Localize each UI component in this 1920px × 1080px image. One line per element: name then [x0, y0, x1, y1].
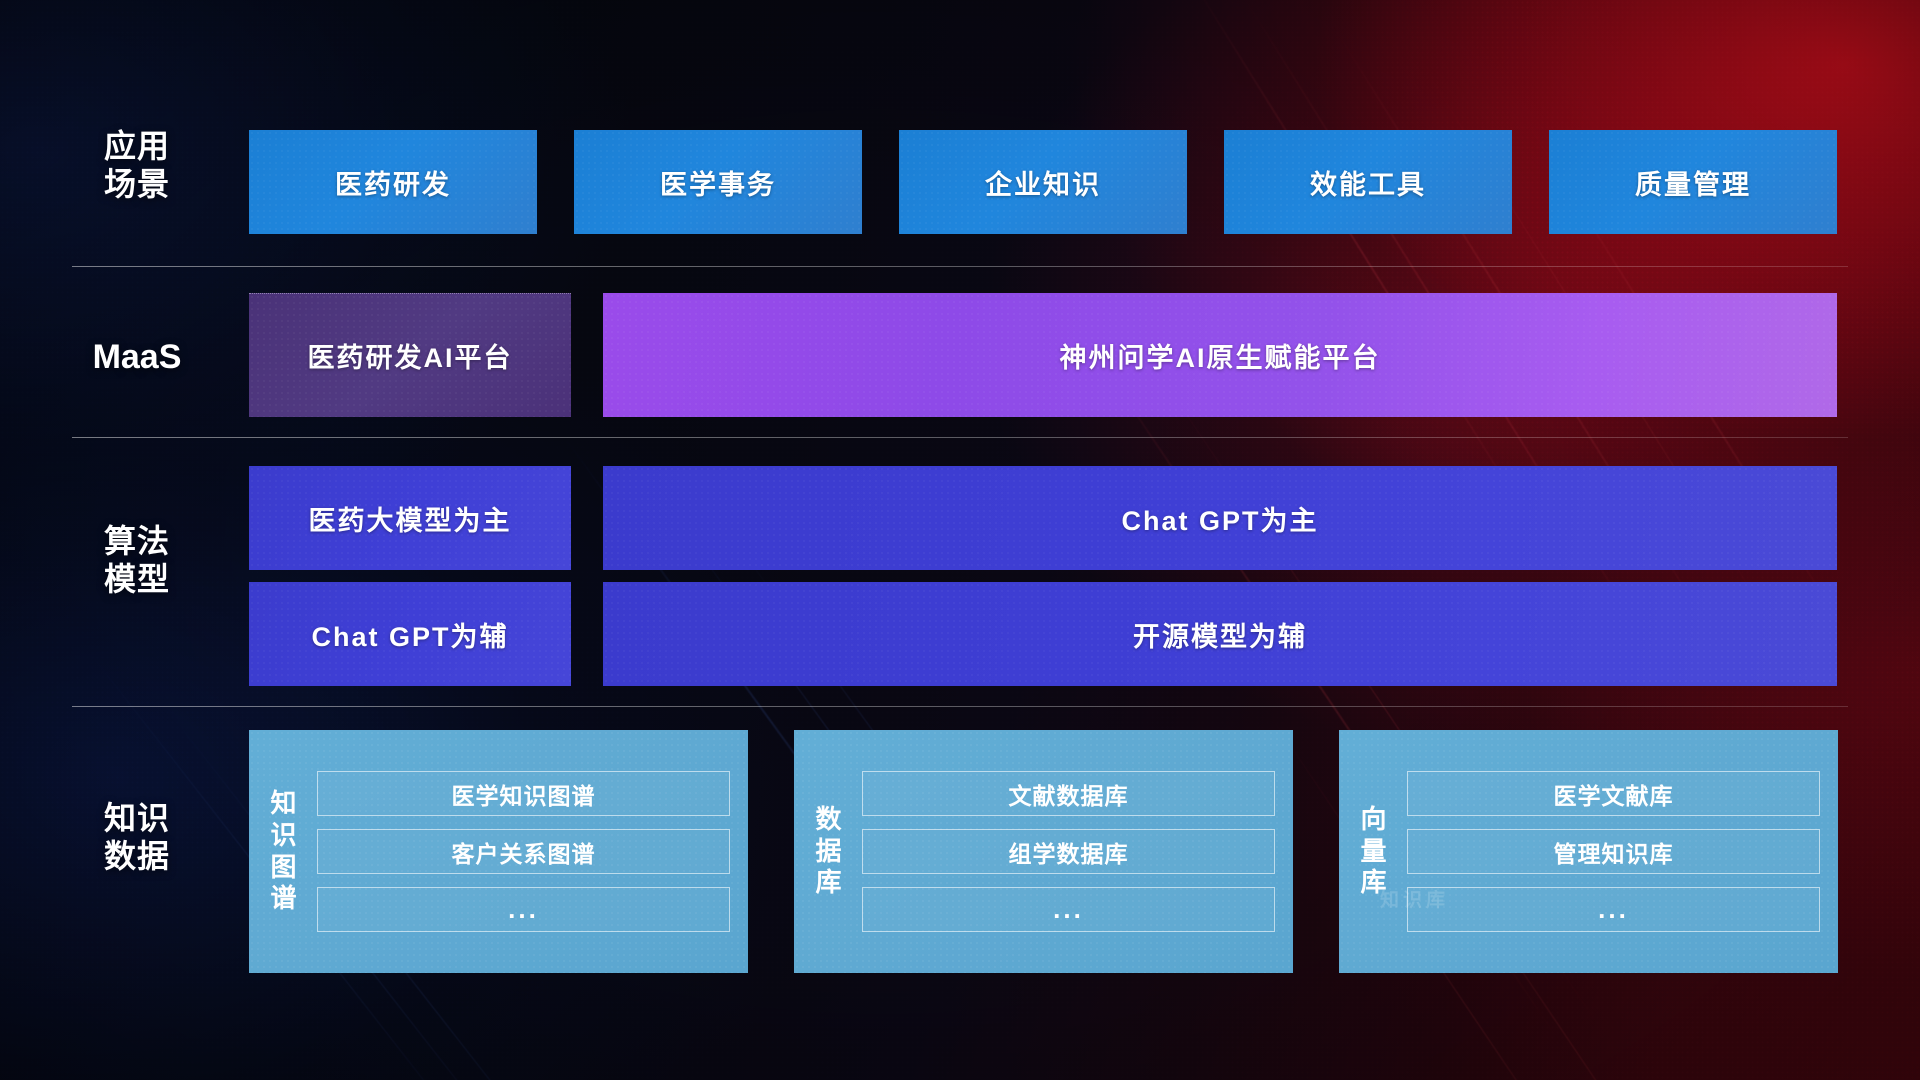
knowledge-item-more[interactable]: ... [317, 887, 730, 932]
row-label-line: 应用 [72, 128, 202, 166]
app-box-label: 医学事务 [660, 163, 776, 202]
divider-2 [72, 437, 1848, 438]
title-char: 量 [1360, 836, 1387, 868]
knowledge-group-title-knowledge-graph: 知 识 图 谱 [249, 730, 311, 973]
knowledge-item[interactable]: 管理知识库 [1407, 829, 1820, 874]
knowledge-item-more[interactable]: ... [862, 887, 1275, 932]
app-box-label: 质量管理 [1635, 163, 1751, 202]
knowledge-group-knowledge-graph[interactable]: 知 识 图 谱 医学知识图谱 客户关系图谱 ... [249, 730, 748, 973]
knowledge-group-database[interactable]: 数 据 库 文献数据库 组学数据库 ... [794, 730, 1293, 973]
knowledge-group-vector-store[interactable]: 向 量 库 医学文献库 管理知识库 ... [1339, 730, 1838, 973]
knowledge-item-label: 客户关系图谱 [452, 835, 596, 869]
divider-1 [72, 266, 1848, 267]
knowledge-item[interactable]: 医学知识图谱 [317, 771, 730, 816]
knowledge-item[interactable]: 文献数据库 [862, 771, 1275, 816]
app-box-label: 效能工具 [1310, 163, 1426, 202]
title-char: 知 [270, 788, 297, 820]
algo-box-opensource-secondary[interactable]: 开源模型为辅 [603, 582, 1837, 686]
knowledge-group-items: 医学文献库 管理知识库 ... [1401, 730, 1838, 973]
row-label-line: 模型 [72, 561, 202, 599]
divider-3 [72, 706, 1848, 707]
row-label-line: 场景 [72, 166, 202, 204]
knowledge-item-label: ... [1598, 894, 1629, 925]
row-label-line: 数据 [72, 838, 202, 876]
algo-box-chatgpt-primary[interactable]: Chat GPT为主 [603, 466, 1837, 570]
title-char: 数 [815, 804, 842, 836]
title-char: 库 [1360, 867, 1387, 899]
knowledge-item-more[interactable]: ... [1407, 887, 1820, 932]
knowledge-item-label: 管理知识库 [1554, 835, 1674, 869]
knowledge-item-label: 医学文献库 [1554, 777, 1674, 811]
knowledge-item-label: 组学数据库 [1009, 835, 1129, 869]
algo-box-label: Chat GPT为辅 [311, 615, 508, 654]
app-box-quality-management[interactable]: 质量管理 [1549, 130, 1837, 234]
knowledge-item-label: ... [508, 894, 539, 925]
maas-box-label: 神州问学AI原生赋能平台 [1060, 336, 1381, 375]
title-char: 据 [815, 836, 842, 868]
knowledge-group-items: 医学知识图谱 客户关系图谱 ... [311, 730, 748, 973]
knowledge-group-items: 文献数据库 组学数据库 ... [856, 730, 1293, 973]
knowledge-group-title-database: 数 据 库 [794, 730, 856, 973]
app-box-enterprise-knowledge[interactable]: 企业知识 [899, 130, 1187, 234]
knowledge-item[interactable]: 医学文献库 [1407, 771, 1820, 816]
app-box-label: 企业知识 [985, 163, 1101, 202]
knowledge-item-label: ... [1053, 894, 1084, 925]
title-char: 库 [815, 867, 842, 899]
knowledge-group-title-vector-store: 向 量 库 [1339, 730, 1401, 973]
row-label-algorithm-models: 算法 模型 [72, 523, 202, 599]
row-label-maas: MaaS [72, 337, 202, 377]
knowledge-item-label: 文献数据库 [1009, 777, 1129, 811]
knowledge-item[interactable]: 组学数据库 [862, 829, 1275, 874]
title-char: 向 [1360, 804, 1387, 836]
row-label-line: MaaS [72, 337, 202, 377]
title-char: 图 [270, 852, 297, 884]
algo-box-label: 医药大模型为主 [309, 499, 512, 538]
row-label-application-scenarios: 应用 场景 [72, 128, 202, 204]
app-box-efficiency-tools[interactable]: 效能工具 [1224, 130, 1512, 234]
maas-box-shenzhou-wenxue-platform[interactable]: 神州问学AI原生赋能平台 [603, 293, 1837, 417]
row-label-line: 算法 [72, 523, 202, 561]
row-label-line: 知识 [72, 800, 202, 838]
app-box-medical-affairs[interactable]: 医学事务 [574, 130, 862, 234]
maas-box-drug-rd-ai-platform[interactable]: 医药研发AI平台 [249, 293, 571, 417]
algo-box-label: Chat GPT为主 [1121, 499, 1318, 538]
architecture-diagram: 应用 场景 医药研发 医学事务 企业知识 效能工具 质量管理 MaaS 医药研发… [0, 0, 1920, 1080]
title-char: 谱 [270, 883, 297, 915]
row-label-knowledge-data: 知识 数据 [72, 800, 202, 876]
app-box-drug-rd[interactable]: 医药研发 [249, 130, 537, 234]
title-char: 识 [270, 820, 297, 852]
algo-box-chatgpt-secondary[interactable]: Chat GPT为辅 [249, 582, 571, 686]
knowledge-item[interactable]: 客户关系图谱 [317, 829, 730, 874]
app-box-label: 医药研发 [335, 163, 451, 202]
maas-box-label: 医药研发AI平台 [308, 336, 513, 375]
algo-box-label: 开源模型为辅 [1133, 615, 1307, 654]
algo-box-pharma-llm-primary[interactable]: 医药大模型为主 [249, 466, 571, 570]
knowledge-item-label: 医学知识图谱 [452, 777, 596, 811]
